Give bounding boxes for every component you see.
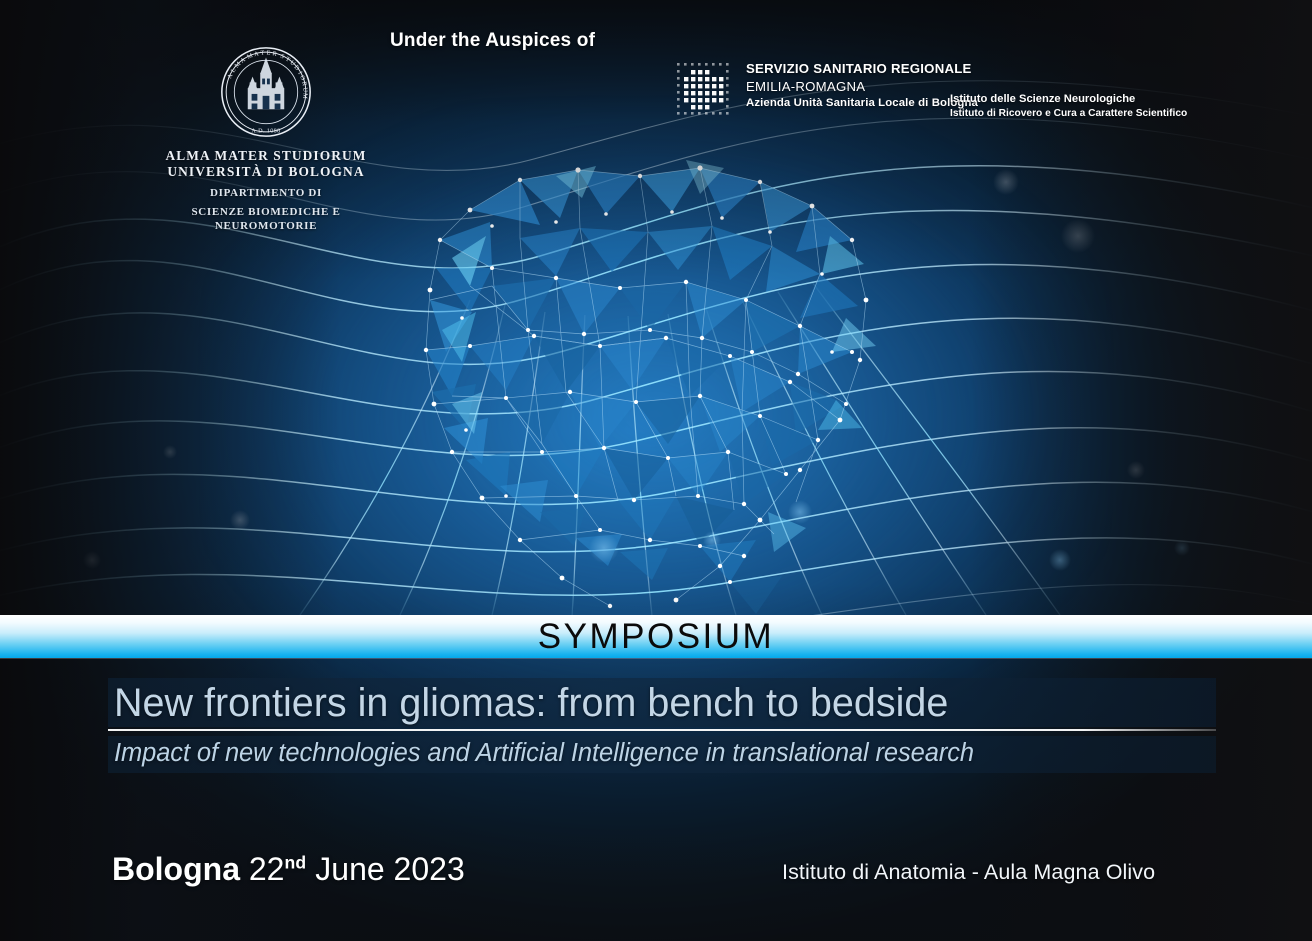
title-panel: New frontiers in gliomas: from bench to …: [108, 678, 1216, 727]
unibo-seal-icon: A L M A M A T E R S T U D I O R U: [218, 44, 314, 140]
isnb-logo-block: Istituto delle Scienze Neurologiche Isti…: [950, 92, 1187, 121]
symposium-band: SYMPOSIUM: [0, 615, 1312, 658]
unibo-logo-block: A L M A M A T E R S T U D I O R U: [160, 44, 372, 234]
unibo-line-4: SCIENZE BIOMEDICHE E NEUROMOTORIE: [160, 206, 372, 234]
unibo-line-2: UNIVERSITÀ DI BOLOGNA: [160, 164, 372, 180]
dot-grid-icon: [676, 62, 734, 120]
auspices-label: Under the Auspices of: [390, 30, 595, 52]
ausl-line-3: Azienda Unità Sanitaria Locale di Bologn…: [746, 96, 978, 112]
ausl-line-2: EMILIA-ROMAGNA: [746, 78, 978, 96]
event-date-line: Bologna 22nd June 2023: [112, 853, 465, 885]
svg-text:R: R: [300, 81, 308, 87]
svg-text:A.D. 1088: A.D. 1088: [251, 128, 280, 134]
isnb-line-2: Istituto di Ricovero e Cura a Carattere …: [950, 107, 1187, 121]
isnb-line-1: Istituto delle Scienze Neurologiche: [950, 92, 1187, 107]
event-day: 22: [249, 851, 285, 887]
ausl-line-1: SERVIZIO SANITARIO REGIONALE: [746, 60, 978, 78]
svg-text:M: M: [301, 93, 309, 100]
title-block: New frontiers in gliomas: from bench to …: [108, 678, 1216, 773]
event-subtitle: Impact of new technologies and Artificia…: [114, 739, 1210, 768]
event-city: Bologna: [112, 851, 240, 887]
subtitle-panel: Impact of new technologies and Artificia…: [108, 736, 1216, 772]
event-title: New frontiers in gliomas: from bench to …: [114, 681, 1210, 725]
event-venue: Istituto di Anatomia - Aula Magna Olivo: [782, 862, 1155, 884]
event-day-ordinal: nd: [284, 852, 306, 872]
event-month-year: June 2023: [315, 851, 464, 887]
svg-text:T: T: [260, 50, 265, 57]
title-divider: [108, 729, 1216, 731]
unibo-line-1: ALMA MATER STUDIORUM: [160, 148, 372, 164]
symposium-label: SYMPOSIUM: [538, 619, 774, 654]
svg-text:E: E: [266, 50, 271, 57]
poster-canvas: Under the Auspices of: [0, 0, 1312, 941]
unibo-line-3: DIPARTIMENTO DI: [160, 187, 372, 201]
ausl-logo-block: SERVIZIO SANITARIO REGIONALE EMILIA-ROMA…: [676, 60, 978, 120]
svg-text:A: A: [253, 50, 260, 58]
